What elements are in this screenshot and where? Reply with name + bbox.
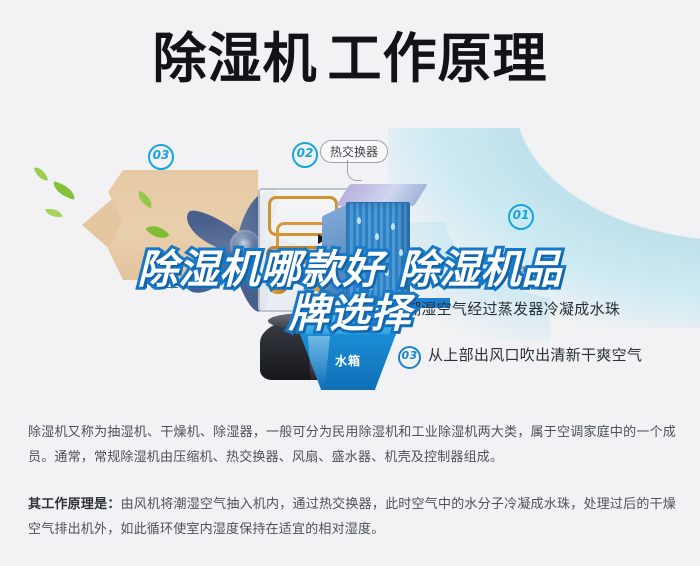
body-copy: 除湿机又称为抽湿机、干燥机、除湿器，一般可分为民用除湿机和工业除湿机两大类，属于… bbox=[28, 420, 676, 548]
page-title-part1: 除湿机 bbox=[153, 27, 318, 90]
step-line-03: 03从上部出风口吹出清新干爽空气 bbox=[398, 344, 642, 369]
page-title: 除湿机工作原理 bbox=[153, 28, 548, 90]
page-title-part2: 工作原理 bbox=[328, 27, 548, 90]
paragraph-2-rest: 由风机将潮湿空气抽入机内，通过热交换器，此时空气中的水分子冷凝成水珠，处理过后的… bbox=[28, 497, 676, 537]
flow-arrow-icon bbox=[288, 248, 298, 257]
dry-air-label: 干燥空气 bbox=[140, 272, 192, 291]
poster-page: 除湿机工作原理 bbox=[0, 0, 700, 566]
humid-air-label: 潮湿空气 bbox=[500, 262, 552, 281]
heat-exchanger-illustration bbox=[336, 184, 414, 308]
paragraph-2: 其工作原理是：由风机将潮湿空气抽入机内，通过热交换器，此时空气中的水分子冷凝成水… bbox=[28, 492, 676, 542]
step-badge-inline-03: 03 bbox=[398, 346, 421, 369]
leaf-icon bbox=[45, 207, 62, 219]
step-badge-03: 03 bbox=[148, 144, 174, 170]
page-title-wrapper: 除湿机工作原理 bbox=[0, 28, 700, 90]
heat-exchanger-fins bbox=[346, 202, 410, 304]
heat-exchanger-side bbox=[322, 204, 348, 309]
leaf-icon bbox=[34, 165, 48, 183]
leaf-icon bbox=[51, 181, 77, 199]
paragraph-1: 除湿机又称为抽湿机、干燥机、除湿器，一般可分为民用除湿机和工业除湿机两大类，属于… bbox=[28, 420, 676, 470]
water-tank-label: 水箱 bbox=[300, 352, 396, 369]
step-line-03-text: 从上部出风口吹出清新干爽空气 bbox=[428, 346, 642, 364]
step-badge-02: 02 bbox=[292, 142, 318, 168]
water-tank-top bbox=[300, 312, 396, 336]
heat-exchanger-callout: 热交换器 bbox=[320, 140, 388, 163]
step-badge-01: 01 bbox=[508, 204, 534, 230]
paragraph-2-lead: 其工作原理是： bbox=[28, 497, 121, 512]
step-line-02: 潮湿空气经过蒸发器冷凝成水珠 bbox=[406, 298, 620, 319]
compressor-cylinder bbox=[268, 254, 288, 294]
step-line-02-text: 潮湿空气经过蒸发器冷凝成水珠 bbox=[406, 300, 620, 318]
water-tank-illustration: 水箱 bbox=[300, 312, 396, 392]
